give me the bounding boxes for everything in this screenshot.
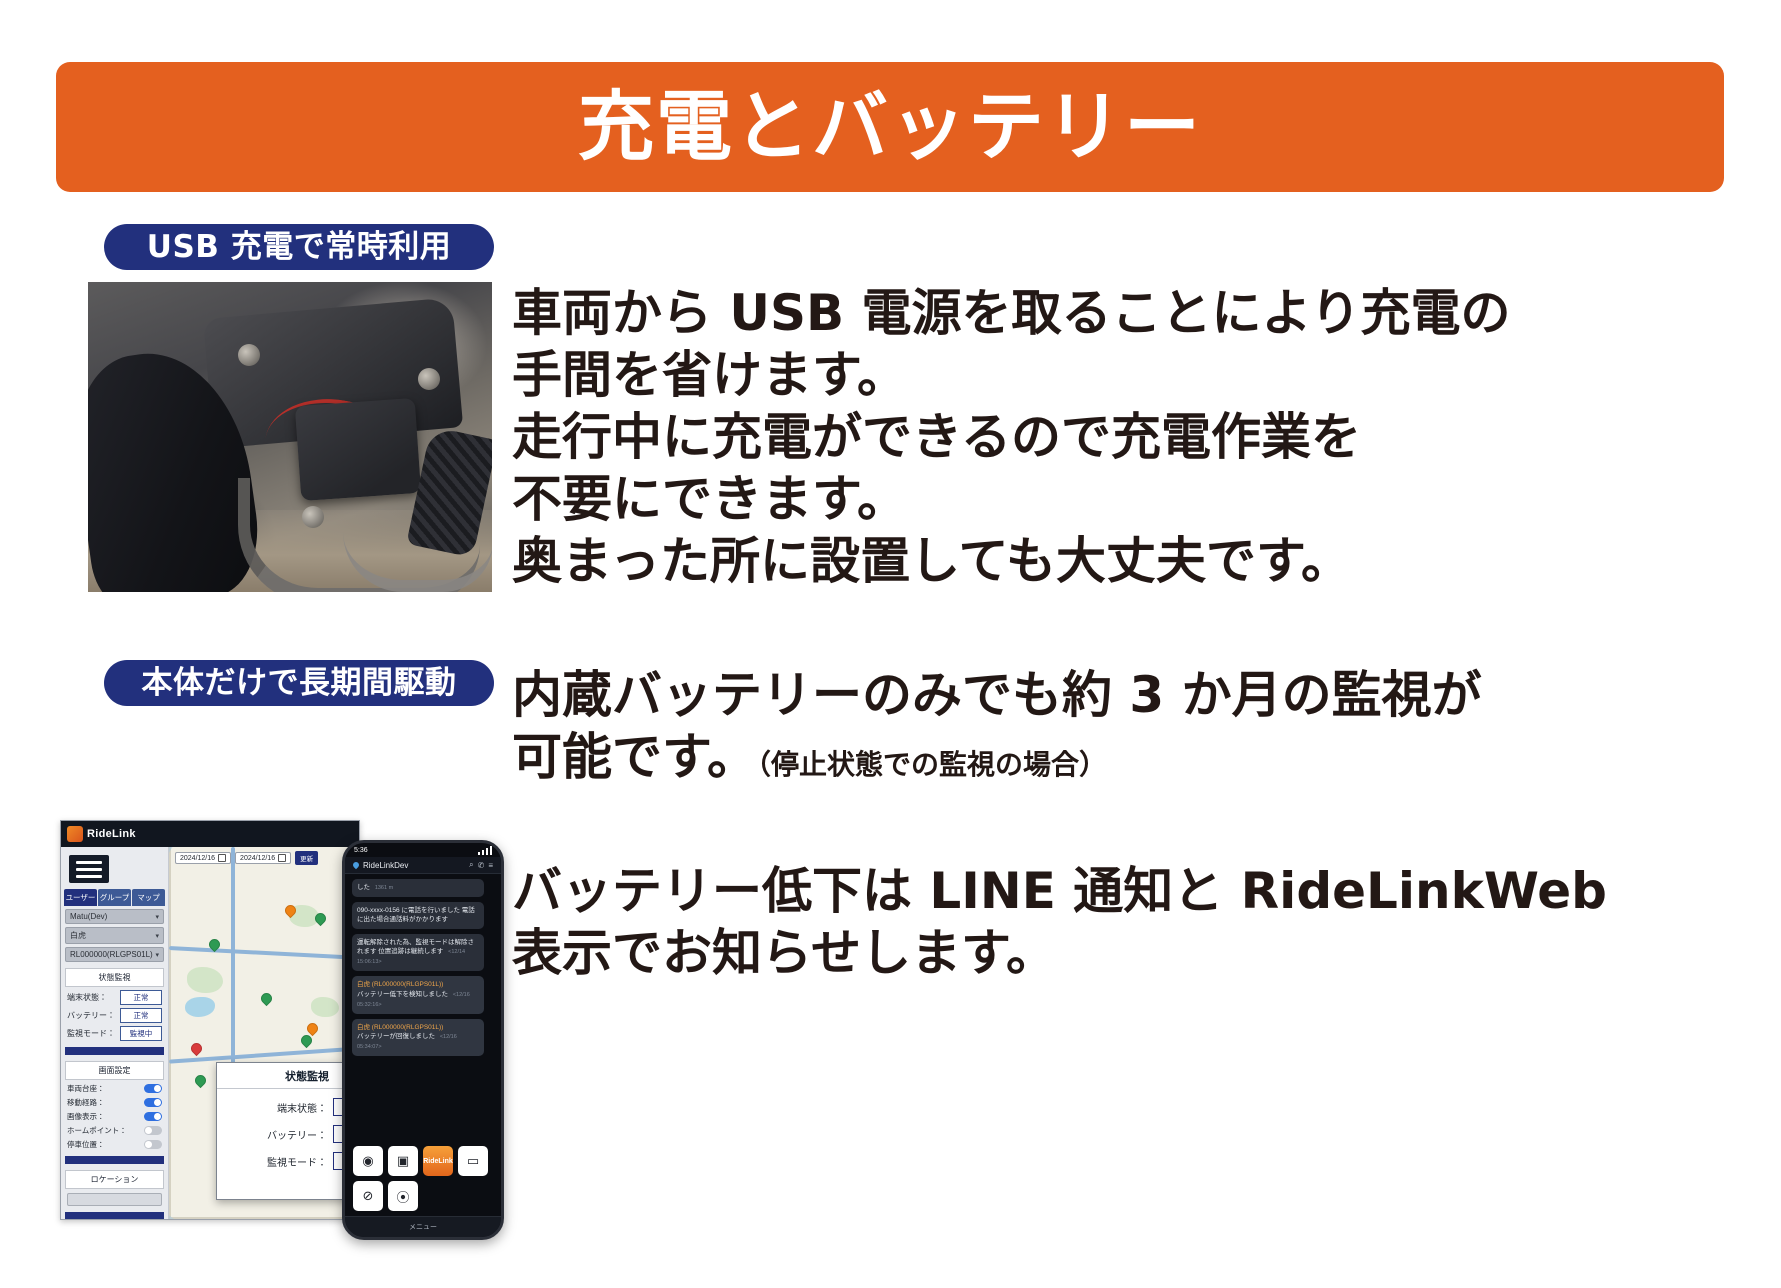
- hamburger-bar: [76, 868, 102, 871]
- select-account[interactable]: Matu(Dev) ▾: [65, 909, 164, 924]
- chat-bubble-text: バッテリーが回復しました: [357, 1033, 435, 1040]
- paragraph-line: 車両から USB 電源を取ることにより充電の: [512, 282, 1511, 344]
- toggle-switch[interactable]: [144, 1112, 162, 1121]
- location-pin-icon: [352, 861, 360, 869]
- paragraph-line: 走行中に充電ができるので充電作業を: [512, 406, 1511, 468]
- paragraph-line-text: 可能です。: [512, 728, 757, 786]
- status-row-device: 端末状態： 正常: [67, 990, 162, 1005]
- paragraph-line: 表示でお知らせします。: [512, 922, 1607, 984]
- status-row-battery: バッテリー： 正常: [67, 1008, 162, 1023]
- settings-panel-title: 画面設定: [65, 1061, 164, 1080]
- phone-status-bar: 5:36: [345, 843, 501, 857]
- select-account-value: Matu(Dev): [70, 912, 107, 921]
- hamburger-menu-icon[interactable]: [69, 855, 109, 883]
- toggle-vehicle-base[interactable]: 車両台座：: [67, 1083, 162, 1094]
- status-panel-title: 状態監視: [65, 968, 164, 987]
- status-row-device-label: 端末状態：: [67, 992, 116, 1003]
- toggle-switch[interactable]: [144, 1098, 162, 1107]
- chat-bubble-battery-low: 白虎 (RL000000(RLGPS01L)) バッテリー低下を検知しました <…: [352, 976, 484, 1013]
- no-entry-icon[interactable]: ⊘: [353, 1181, 383, 1211]
- camera-icon[interactable]: ◉: [353, 1146, 383, 1176]
- sidebar-divider: [65, 1212, 164, 1220]
- map-park-area: [311, 997, 339, 1017]
- date-from-value: 2024/12/16: [180, 855, 215, 862]
- toggle-vehicle-base-label: 車両台座：: [67, 1083, 144, 1094]
- toggle-route-label: 移動経路：: [67, 1097, 144, 1108]
- location-pin-icon[interactable]: ⦿: [388, 1181, 418, 1211]
- chevron-down-icon: ▾: [155, 913, 159, 921]
- tab-user[interactable]: ユーザー: [64, 889, 97, 906]
- search-icon[interactable]: ⌕: [469, 860, 473, 870]
- chat-bubble-text: バッテリー低下を検知しました: [357, 991, 448, 998]
- status-monitor-battery-label: バッテリー：: [227, 1127, 327, 1142]
- chat-bubble-stamp: 1361 m: [375, 885, 393, 891]
- chat-message-list[interactable]: した 1361 m 090-xxxx-0156 に電話を行いました 電話に出た場…: [345, 874, 501, 1170]
- map-park-area: [187, 967, 223, 993]
- ridelink-logo-icon: [67, 826, 83, 842]
- chat-title: RideLinkDev: [363, 861, 408, 870]
- paragraph-line: バッテリー低下は LINE 通知と RideLinkWeb: [512, 860, 1607, 922]
- toggle-image-label: 画像表示：: [67, 1111, 144, 1122]
- ridelink-logo-label: RideLink: [87, 828, 136, 840]
- status-row-battery-label: バッテリー：: [67, 1010, 116, 1021]
- hamburger-bar: [76, 861, 102, 864]
- page-title: 充電とバッテリー: [578, 89, 1202, 165]
- status-row-mode: 監視モード： 監視中: [67, 1026, 162, 1041]
- phone-mockup: 5:36 RideLinkDev ⌕ ✆ ≡ した 1361 m 09: [342, 840, 504, 1240]
- hamburger-bar: [76, 875, 102, 878]
- phone-clock: 5:36: [354, 847, 368, 854]
- chat-bubble-text: した: [357, 884, 370, 891]
- phone-call-icon[interactable]: ✆: [478, 861, 485, 870]
- status-monitor-device-label: 端末状態：: [227, 1100, 327, 1115]
- chat-bubble: 運転解除された為、監視モードは解除されます 位置追跡は継続します <12/14 …: [352, 934, 484, 971]
- sidebar-divider: [65, 1156, 164, 1164]
- badge-usb-charging-label: USB 充電で常時利用: [147, 232, 451, 263]
- chat-bubble-title: 白虎 (RL000000(RLGPS01L)): [357, 1023, 479, 1032]
- sidebar-tabs: ユーザー グループ マップ: [61, 889, 168, 906]
- toggle-stop-position-label: 停車位置：: [67, 1139, 144, 1150]
- chat-bubble-text: 090-xxxx-0156 に電話を行いました 電話に出た場合通話料がかかります: [357, 907, 475, 923]
- chat-bubble-battery-recovered: 白虎 (RL000000(RLGPS01L)) バッテリーが回復しました <12…: [352, 1019, 484, 1056]
- toggle-route[interactable]: 移動経路：: [67, 1097, 162, 1108]
- photo-bolt: [302, 506, 324, 528]
- image-icon[interactable]: ▣: [388, 1146, 418, 1176]
- toggle-home-point-label: ホームポイント：: [67, 1125, 144, 1136]
- update-button[interactable]: 更新: [295, 851, 318, 865]
- select-device[interactable]: RL000000(RLGPS01L) ▾: [65, 947, 164, 962]
- chat-bubble-title: 白虎 (RL000000(RLGPS01L)): [357, 980, 479, 989]
- toggle-home-point[interactable]: ホームポイント：: [67, 1125, 162, 1136]
- paragraph-line: 内蔵バッテリーのみでも約 3 か月の監視が: [512, 664, 1482, 726]
- chat-bubble: した 1361 m: [352, 879, 484, 897]
- chevron-down-icon: ▾: [155, 951, 159, 959]
- badge-usb-charging: USB 充電で常時利用: [104, 224, 494, 270]
- screenshot-composite: RideLink ユーザー グループ マップ Matu(Dev) ▾: [52, 820, 502, 1250]
- status-row-device-value: 正常: [120, 990, 162, 1005]
- chat-header: RideLinkDev ⌕ ✆ ≡: [345, 857, 501, 874]
- web-sidebar: ユーザー グループ マップ Matu(Dev) ▾ 白虎 ▾ RL000000(…: [61, 847, 169, 1219]
- status-row-battery-value: 正常: [120, 1008, 162, 1023]
- location-panel-title: ロケーション: [65, 1170, 164, 1189]
- paragraph-line: 不要にできます。: [512, 468, 1511, 530]
- paragraph-battery-life: 内蔵バッテリーのみでも約 3 か月の監視が 可能です。（停止状態での監視の場合）: [512, 664, 1482, 796]
- toggle-switch[interactable]: [144, 1084, 162, 1093]
- signal-icon: [478, 846, 492, 855]
- sidebar-divider: [65, 1047, 164, 1055]
- web-topbar: RideLink: [61, 821, 359, 847]
- tab-map[interactable]: マップ: [132, 889, 165, 906]
- dashcam-icon[interactable]: ▭: [458, 1146, 488, 1176]
- date-to-input[interactable]: 2024/12/16: [235, 852, 291, 864]
- toggle-stop-position[interactable]: 停車位置：: [67, 1139, 162, 1150]
- calendar-icon: [218, 854, 226, 862]
- chat-quick-tools: ◉ ▣ RideLink ▭ ⊘ ⦿: [345, 1142, 501, 1215]
- select-vehicle[interactable]: 白虎 ▾: [65, 927, 164, 944]
- paragraph-line: 可能です。（停止状態での監視の場合）: [512, 726, 1482, 796]
- paragraph-line: 手間を省けます。: [512, 344, 1511, 406]
- select-device-value: RL000000(RLGPS01L): [70, 950, 153, 959]
- paragraph-battery-notification: バッテリー低下は LINE 通知と RideLinkWeb 表示でお知らせします…: [512, 860, 1607, 984]
- toggle-switch[interactable]: [144, 1126, 162, 1135]
- menu-icon[interactable]: ≡: [488, 861, 493, 870]
- toggle-image[interactable]: 画像表示：: [67, 1111, 162, 1122]
- location-input[interactable]: [67, 1193, 162, 1206]
- date-to-value: 2024/12/16: [240, 855, 275, 862]
- status-row-mode-value: 監視中: [120, 1026, 162, 1041]
- date-from-input[interactable]: 2024/12/16: [175, 852, 231, 864]
- ridelink-brand-icon[interactable]: RideLink: [423, 1146, 453, 1176]
- photo-bolt: [418, 368, 440, 390]
- calendar-icon: [278, 854, 286, 862]
- badge-long-battery-life: 本体だけで長期間駆動: [104, 660, 494, 706]
- chevron-down-icon: ▾: [155, 932, 159, 940]
- paragraph-usb-charging: 車両から USB 電源を取ることにより充電の 手間を省けます。 走行中に充電がで…: [512, 282, 1511, 592]
- slide-root: 充電とバッテリー USB 充電で常時利用 車両から USB 電源を取ることにより…: [0, 0, 1781, 1288]
- photo-bike-installation: [88, 282, 492, 592]
- chat-bubble: 090-xxxx-0156 に電話を行いました 電話に出た場合通話料がかかります: [352, 902, 484, 929]
- slide-title-banner: 充電とバッテリー: [56, 62, 1724, 192]
- phone-menu-bar[interactable]: メニュー: [345, 1216, 501, 1237]
- status-monitor-mode-label: 監視モード：: [227, 1154, 327, 1169]
- status-row-mode-label: 監視モード：: [67, 1028, 116, 1039]
- tab-group[interactable]: グループ: [98, 889, 131, 906]
- map-date-controls: 2024/12/16 2024/12/16 更新: [175, 851, 318, 865]
- toggle-switch[interactable]: [144, 1140, 162, 1149]
- badge-long-battery-life-label: 本体だけで長期間駆動: [142, 668, 457, 699]
- phone-menu-label: メニュー: [409, 1222, 437, 1232]
- select-vehicle-value: 白虎: [70, 930, 86, 941]
- paragraph-line: 奥まった所に設置しても大丈夫です。: [512, 530, 1511, 592]
- photo-bolt: [238, 344, 260, 366]
- paragraph-note: （停止状態での監視の場合）: [757, 748, 1107, 781]
